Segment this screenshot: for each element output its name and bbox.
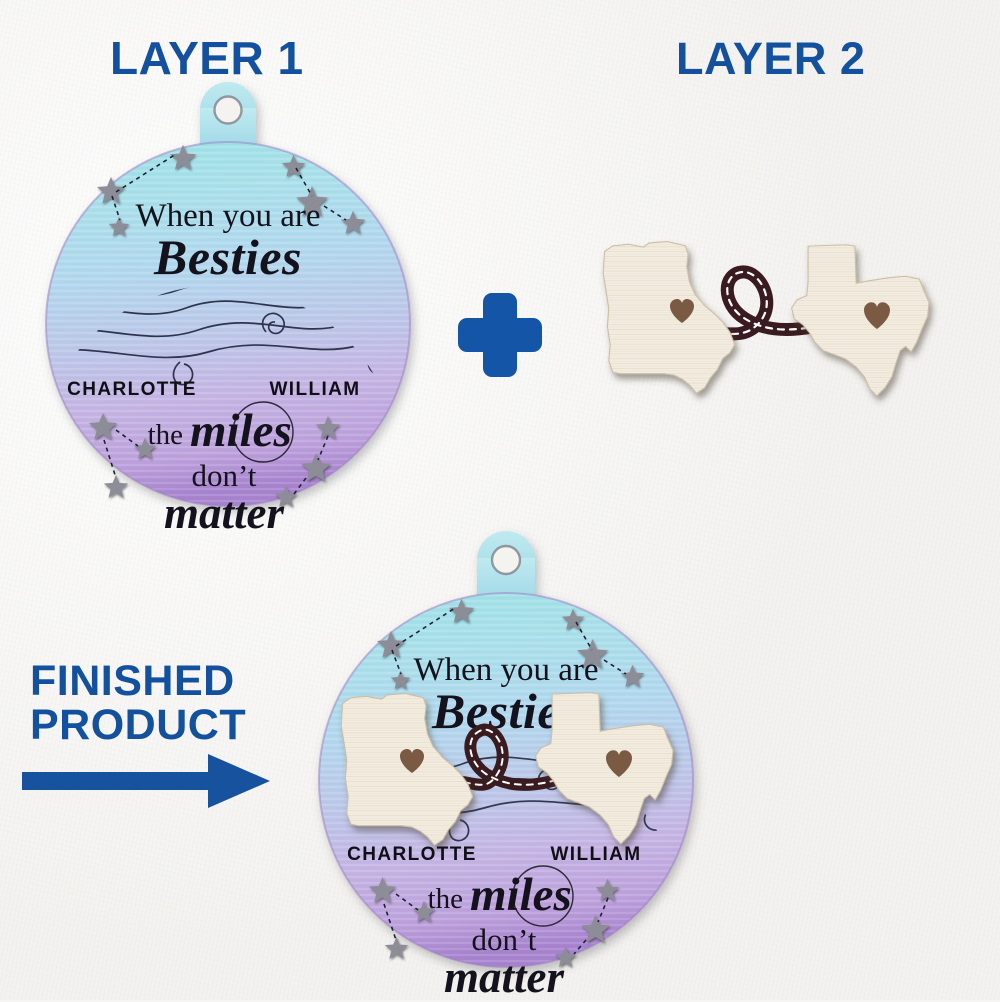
finished-name-left: CHARLOTTE — [347, 844, 477, 865]
finished-text-line6: matter — [444, 952, 564, 1002]
state-piece-texas — [792, 245, 929, 396]
layer1-label: LAYER 1 — [110, 35, 304, 82]
finished-text-line4: miles — [470, 869, 572, 921]
layer1-ornament: When you are Besties CHARLOTTE WILLIAM t… — [28, 92, 428, 542]
ornament-text-line6: matter — [164, 488, 284, 538]
ornament-text-line2: Besties — [153, 229, 302, 285]
right-arrow-icon — [22, 752, 270, 810]
finished-text-line3: the — [428, 883, 463, 915]
finished-product-label: FINISHED PRODUCT — [30, 660, 246, 748]
ornament-text-line4: miles — [190, 405, 292, 457]
plus-icon — [455, 285, 545, 375]
layer2-label: LAYER 2 — [676, 36, 865, 82]
layer2-state-pieces — [592, 228, 938, 408]
finished-name-right: WILLIAM — [550, 844, 641, 865]
name-right: WILLIAM — [269, 379, 360, 400]
state-piece-missouri — [603, 242, 734, 394]
finished-product-ornament: When you are Besties CHARLOTTE WILLIAM — [300, 540, 712, 1002]
name-left: CHARLOTTE — [67, 379, 197, 400]
ornament-text-line3: the — [148, 419, 183, 451]
